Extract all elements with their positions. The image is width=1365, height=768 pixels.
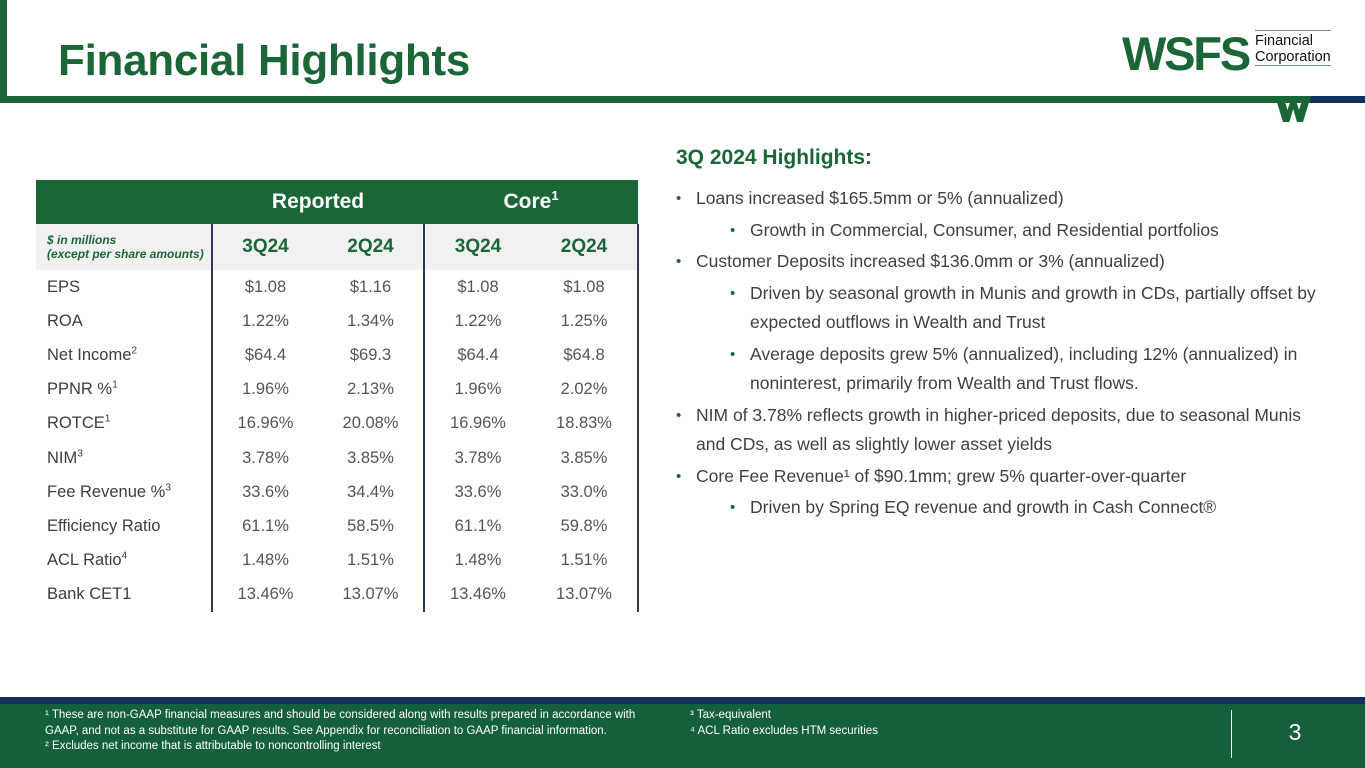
highlights-panel: 3Q 2024 Highlights: •Loans increased $16… xyxy=(676,146,1316,525)
row-label: Net Income2 xyxy=(36,338,212,372)
header-divider-rule xyxy=(0,96,1310,103)
group-header-core: Core1 xyxy=(424,180,638,224)
logo-wordmark: WSFS xyxy=(1122,30,1249,78)
table-cell-value: 1.22% xyxy=(424,304,531,338)
bullet-text: Driven by seasonal growth in Munis and g… xyxy=(750,279,1316,338)
table-row: EPS$1.08$1.16$1.08$1.08 xyxy=(36,270,638,304)
table-cell-value: $64.8 xyxy=(531,338,638,372)
highlight-bullet: •Customer Deposits increased $136.0mm or… xyxy=(676,247,1316,277)
bullet-dot-icon: • xyxy=(676,184,696,214)
table-row: NIM33.78%3.85%3.78%3.85% xyxy=(36,441,638,475)
table-cell-value: 3.78% xyxy=(424,441,531,475)
row-label: Efficiency Ratio xyxy=(36,509,212,543)
row-label: PPNR %1 xyxy=(36,373,212,407)
units-line-2: (except per share amounts) xyxy=(47,247,211,261)
page-number: 3 xyxy=(1270,719,1320,746)
footnotes-left: ¹ These are non-GAAP financial measures … xyxy=(45,708,660,755)
table-cell-value: 1.51% xyxy=(318,544,424,578)
page-number-divider xyxy=(1231,710,1232,758)
logo-subtext-line2: Corporation xyxy=(1255,50,1331,66)
bullet-text: Average deposits grew 5% (annualized), i… xyxy=(750,340,1316,399)
table-cell-value: 1.48% xyxy=(424,544,531,578)
table-row: ROA1.22%1.34%1.22%1.25% xyxy=(36,304,638,338)
row-label: Fee Revenue %3 xyxy=(36,475,212,509)
table-cell-value: 33.0% xyxy=(531,475,638,509)
bullet-dot-icon: • xyxy=(676,401,696,460)
table-row: ACL Ratio41.48%1.51%1.48%1.51% xyxy=(36,544,638,578)
table-cell-value: 1.51% xyxy=(531,544,638,578)
table-cell-value: 61.1% xyxy=(212,509,318,543)
table-cell-value: 33.6% xyxy=(424,475,531,509)
table-cell-value: $1.08 xyxy=(424,270,531,304)
table-cell-value: 18.83% xyxy=(531,407,638,441)
highlight-sub-bullet: •Driven by Spring EQ revenue and growth … xyxy=(730,493,1316,523)
table-cell-value: 1.25% xyxy=(531,304,638,338)
highlight-bullet: •Loans increased $165.5mm or 5% (annuali… xyxy=(676,184,1316,214)
table-cell-value: $69.3 xyxy=(318,338,424,372)
column-header-reported-2q24: 2Q24 xyxy=(318,224,424,270)
column-header-core-2q24: 2Q24 xyxy=(531,224,638,270)
table-cell-value: 20.08% xyxy=(318,407,424,441)
bullet-text: Driven by Spring EQ revenue and growth i… xyxy=(750,493,1316,523)
table-body: EPS$1.08$1.16$1.08$1.08ROA1.22%1.34%1.22… xyxy=(36,270,638,612)
table-cell-value: 1.34% xyxy=(318,304,424,338)
column-header-reported-3q24: 3Q24 xyxy=(212,224,318,270)
table-cell-value: 13.07% xyxy=(318,578,424,612)
table-cell-value: 1.48% xyxy=(212,544,318,578)
table-cell-value: 59.8% xyxy=(531,509,638,543)
financial-metrics-table: Reported Core1 $ in millions (except per… xyxy=(36,180,639,612)
bullet-text: Customer Deposits increased $136.0mm or … xyxy=(696,247,1316,277)
table-cell-value: 33.6% xyxy=(212,475,318,509)
table-cell-value: 34.4% xyxy=(318,475,424,509)
row-label: NIM3 xyxy=(36,441,212,475)
table-cell-value: 1.96% xyxy=(212,373,318,407)
bullet-dot-icon: • xyxy=(730,493,750,523)
table-cell-value: 16.96% xyxy=(212,407,318,441)
table-cell-value: 2.02% xyxy=(531,373,638,407)
table-row: PPNR %11.96%2.13%1.96%2.02% xyxy=(36,373,638,407)
group-header-blank xyxy=(36,180,212,224)
row-label: Bank CET1 xyxy=(36,578,212,612)
table-cell-value: 58.5% xyxy=(318,509,424,543)
table-row: Bank CET113.46%13.07%13.46%13.07% xyxy=(36,578,638,612)
highlight-sub-bullet: •Growth in Commercial, Consumer, and Res… xyxy=(730,216,1316,246)
highlights-bullet-list: •Loans increased $165.5mm or 5% (annuali… xyxy=(676,184,1316,523)
table-row: Fee Revenue %333.6%34.4%33.6%33.0% xyxy=(36,475,638,509)
table-cell-value: 13.46% xyxy=(212,578,318,612)
row-label: EPS xyxy=(36,270,212,304)
left-edge-accent-bar xyxy=(0,0,7,103)
table-column-header-row: $ in millions (except per share amounts)… xyxy=(36,224,638,270)
row-label: ROA xyxy=(36,304,212,338)
table-cell-value: 1.22% xyxy=(212,304,318,338)
table-cell-value: 1.96% xyxy=(424,373,531,407)
bullet-dot-icon: • xyxy=(730,279,750,338)
bullet-text: Growth in Commercial, Consumer, and Resi… xyxy=(750,216,1316,246)
units-line-1: $ in millions xyxy=(47,233,211,247)
column-header-core-3q24: 3Q24 xyxy=(424,224,531,270)
table-cell-value: 3.78% xyxy=(212,441,318,475)
footer-navy-strip xyxy=(0,697,1365,704)
table-row: Net Income2$64.4$69.3$64.4$64.8 xyxy=(36,338,638,372)
wsfs-w-mark-icon xyxy=(1272,96,1314,122)
table-units-label: $ in millions (except per share amounts) xyxy=(36,224,212,270)
table-cell-value: 2.13% xyxy=(318,373,424,407)
table-cell-value: $1.16 xyxy=(318,270,424,304)
highlight-sub-bullet: •Average deposits grew 5% (annualized), … xyxy=(730,340,1316,399)
table-row: Efficiency Ratio61.1%58.5%61.1%59.8% xyxy=(36,509,638,543)
highlight-sub-bullet: •Driven by seasonal growth in Munis and … xyxy=(730,279,1316,338)
table-cell-value: $1.08 xyxy=(212,270,318,304)
highlights-title: 3Q 2024 Highlights: xyxy=(676,146,1316,170)
highlight-bullet: •NIM of 3.78% reflects growth in higher-… xyxy=(676,401,1316,460)
row-label: ACL Ratio4 xyxy=(36,544,212,578)
table-cell-value: $64.4 xyxy=(212,338,318,372)
table-row: ROTCE116.96%20.08%16.96%18.83% xyxy=(36,407,638,441)
footnotes-right: ³ Tax-equivalent⁴ ACL Ratio excludes HTM… xyxy=(690,708,1170,739)
bullet-text: Core Fee Revenue¹ of $90.1mm; grew 5% qu… xyxy=(696,462,1316,492)
bullet-dot-icon: • xyxy=(730,340,750,399)
page-title: Financial Highlights xyxy=(58,36,470,86)
bullet-text: NIM of 3.78% reflects growth in higher-p… xyxy=(696,401,1316,460)
bullet-dot-icon: • xyxy=(676,462,696,492)
table-cell-value: $1.08 xyxy=(531,270,638,304)
logo-subtext-line1: Financial xyxy=(1255,34,1331,50)
table-cell-value: 3.85% xyxy=(531,441,638,475)
table-group-header-row: Reported Core1 xyxy=(36,180,638,224)
table-cell-value: $64.4 xyxy=(424,338,531,372)
header-divider-rule-navy xyxy=(1310,96,1365,103)
wsfs-logo: WSFS Financial Corporation xyxy=(1122,30,1331,78)
logo-subtext: Financial Corporation xyxy=(1255,30,1331,66)
table-cell-value: 13.46% xyxy=(424,578,531,612)
table-cell-value: 61.1% xyxy=(424,509,531,543)
table-cell-value: 16.96% xyxy=(424,407,531,441)
group-header-reported: Reported xyxy=(212,180,424,224)
bullet-text: Loans increased $165.5mm or 5% (annualiz… xyxy=(696,184,1316,214)
highlight-bullet: •Core Fee Revenue¹ of $90.1mm; grew 5% q… xyxy=(676,462,1316,492)
row-label: ROTCE1 xyxy=(36,407,212,441)
bullet-dot-icon: • xyxy=(676,247,696,277)
bullet-dot-icon: • xyxy=(730,216,750,246)
table-cell-value: 13.07% xyxy=(531,578,638,612)
table-cell-value: 3.85% xyxy=(318,441,424,475)
